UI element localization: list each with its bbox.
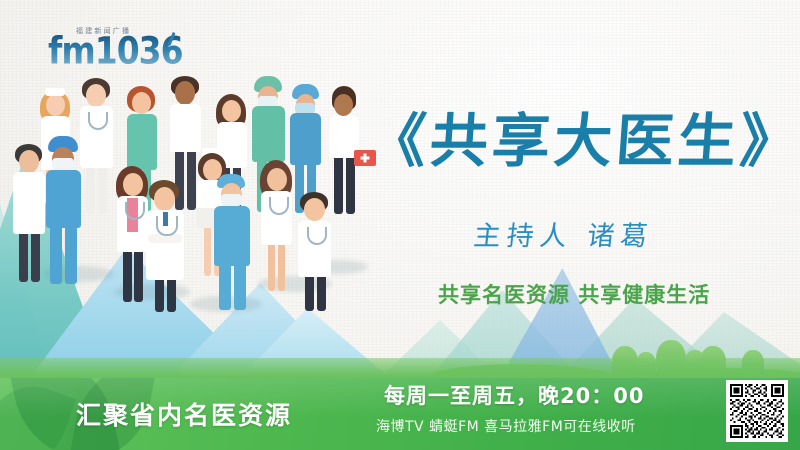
- program-sub-slogan: 共享名医资源 共享健康生活: [438, 279, 710, 309]
- footer-platforms: 海博TV 蜻蜓FM 喜马拉雅FM可在线收听: [376, 416, 636, 436]
- qr-code[interactable]: [726, 380, 788, 442]
- station-logo: 福建新闻广播 fm1036: [48, 26, 178, 72]
- program-title: 《共享大医生》: [366, 112, 782, 170]
- footer-schedule: 每周一至周五，晚20：00: [384, 380, 644, 410]
- qr-code-image: [730, 384, 784, 438]
- station-logo-frequency: fm1036: [48, 32, 183, 69]
- radio-program-poster: 福建新闻广播 fm1036 《共享大医生》 主持人 诸葛 共享名医资源 共享健康…: [0, 0, 800, 450]
- footer-left-slogan: 汇聚省内名医资源: [76, 396, 292, 432]
- program-host: 主持人 诸葛: [472, 214, 656, 253]
- medical-staff-illustration: [18, 70, 368, 310]
